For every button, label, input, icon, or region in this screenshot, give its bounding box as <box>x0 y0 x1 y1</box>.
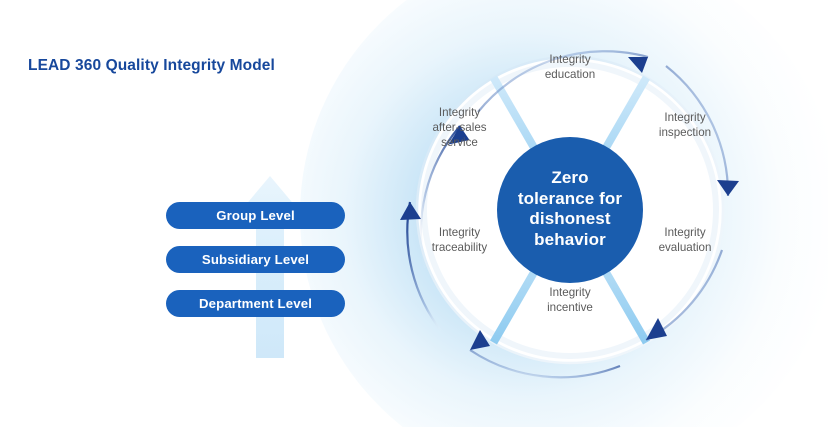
level-pill-subsidiary[interactable]: Subsidiary Level <box>166 246 345 273</box>
segment-label-integrity-education: Integrity education <box>520 52 620 82</box>
level-pill-label: Subsidiary Level <box>202 252 309 267</box>
infographic-canvas: LEAD 360 Quality Integrity Model Group L… <box>0 0 828 427</box>
hub-label: Zero tolerance for dishonest behavior <box>495 168 645 250</box>
segment-label-integrity-incentive: Integrity incentive <box>520 285 620 315</box>
segment-label-integrity-after-sales-service: Integrity after-sales service <box>402 105 517 150</box>
level-pill-label: Group Level <box>216 208 295 223</box>
page-title: LEAD 360 Quality Integrity Model <box>28 57 275 75</box>
levels-group: Group Level Subsidiary Level Department … <box>166 168 366 358</box>
segment-label-integrity-inspection: Integrity inspection <box>630 110 740 140</box>
level-pill-label: Department Level <box>199 296 312 311</box>
segment-label-integrity-evaluation: Integrity evaluation <box>630 225 740 255</box>
level-pill-group[interactable]: Group Level <box>166 202 345 229</box>
level-pill-department[interactable]: Department Level <box>166 290 345 317</box>
integrity-wheel: Integrity education Integrity inspection… <box>370 10 770 410</box>
